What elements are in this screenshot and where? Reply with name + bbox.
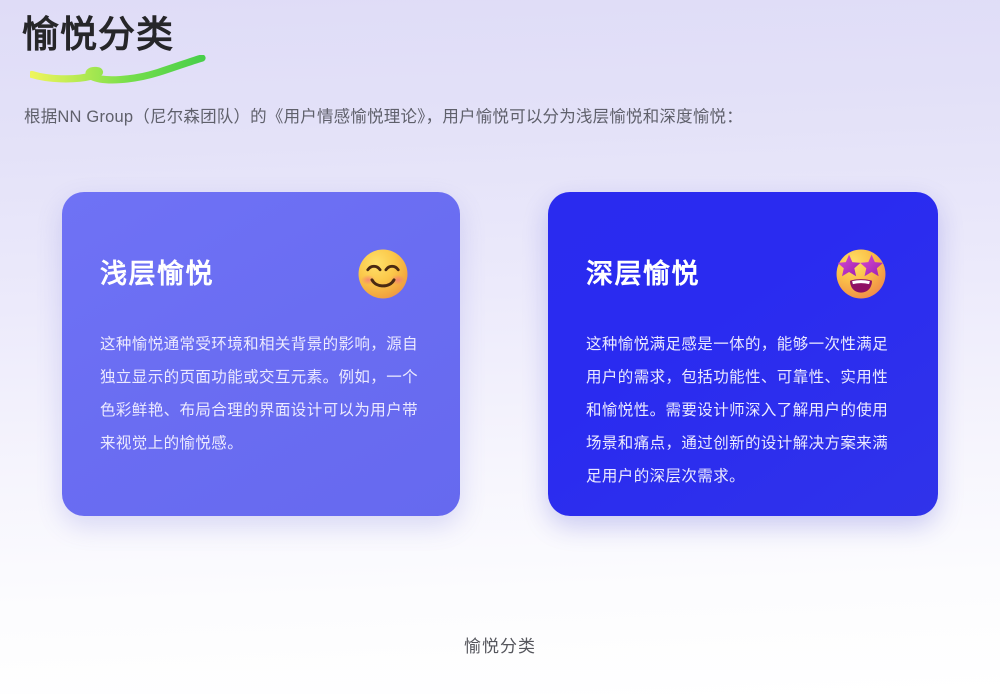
card-deep-delight[interactable]: 深层愉悦 <box>548 192 938 516</box>
intro-paragraph: 根据NN Group（尼尔森团队）的《用户情感愉悦理论》，用户愉悦可以分为浅层愉… <box>24 105 974 129</box>
card-shallow-delight[interactable]: 浅层愉悦 <box>62 192 460 516</box>
page-header: 愉悦分类 <box>22 12 442 82</box>
figure-caption: 愉悦分类 <box>0 635 1000 659</box>
card-title: 深层愉悦 <box>586 257 700 291</box>
delight-cards-container: 浅层愉悦 <box>0 192 1000 516</box>
page-title: 愉悦分类 <box>22 12 174 57</box>
brush-swoosh-icon <box>30 55 212 85</box>
card-body-text: 这种愉悦通常受环境和相关背景的影响，源自独立显示的页面功能或交互元素。例如，一个… <box>100 328 424 460</box>
star-struck-emoji <box>834 247 888 301</box>
smiling-face-with-smiling-eyes-emoji <box>356 247 410 301</box>
card-body-text: 这种愉悦满足感是一体的，能够一次性满足用户的需求，包括功能性、可靠性、实用性和愉… <box>586 328 902 493</box>
card-title: 浅层愉悦 <box>100 257 214 291</box>
card-header: 深层愉悦 <box>586 248 902 300</box>
card-header: 浅层愉悦 <box>100 248 424 300</box>
